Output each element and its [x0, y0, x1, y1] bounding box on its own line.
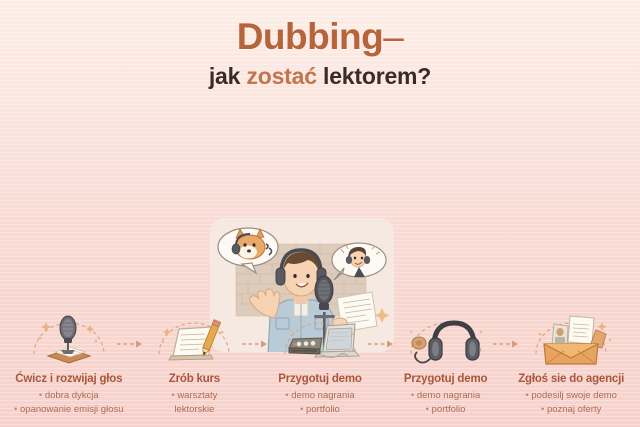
notepad-and-pencil-icon [149, 308, 239, 370]
step-4-bullet-1: demo nagrania [411, 389, 480, 403]
arrow-2-to-3-icon [241, 338, 271, 350]
step-1-bullet-2: opanowanie emisji głosu [14, 403, 123, 417]
microphone-and-book-icon [24, 308, 114, 370]
step-4[interactable]: Przygotuj demo demo nagrania portfolio [383, 308, 509, 417]
step-3-bullet-1: demo nagrania [285, 389, 354, 403]
infographic-poster: Dubbing– jak zostać lektorem? [0, 0, 640, 427]
step-1-title: Ćwicz i rozwijaj głos [15, 373, 122, 385]
step-5-bullet-2: poznaj oferty [525, 403, 617, 417]
page-title-dash: – [383, 16, 403, 57]
step-4-bullet-2: portfolio [411, 403, 480, 417]
headphones-icon [401, 308, 491, 370]
step-2-bullet-2: lektorskie [171, 403, 217, 417]
audio-interface-and-laptop-icon [275, 308, 365, 370]
step-3-bullets: demo nagrania portfolio [285, 389, 354, 417]
step-5-bullets: podesilj swoje demo poznaj oferty [525, 389, 617, 417]
step-3[interactable]: Przygotuj demo demo nagrania portfolio [257, 308, 383, 417]
steps-row: Ćwicz i rozwijaj głos dobra dykcja opano… [0, 308, 640, 427]
envelope-with-documents-icon [526, 308, 616, 370]
step-5-title: Zgłoś sie do agencji [518, 373, 624, 385]
step-2-bullets: warsztaty lektorskie [171, 389, 217, 417]
page-title-text: Dubbing [237, 16, 384, 57]
step-3-title: Przygotuj demo [278, 373, 361, 385]
subtitle-accent: zostać [246, 63, 316, 89]
subtitle-prefix: jak [209, 63, 240, 89]
title-block: Dubbing– jak zostać lektorem? [0, 18, 640, 89]
arrow-3-to-4-icon [367, 338, 397, 350]
step-3-bullet-2: portfolio [285, 403, 354, 417]
step-1-bullets: dobra dykcja opanowanie emisji głosu [14, 389, 123, 417]
step-1[interactable]: Ćwicz i rozwijaj głos dobra dykcja opano… [6, 308, 132, 417]
subtitle-suffix: lektorem? [323, 63, 431, 89]
page-title: Dubbing– [0, 18, 640, 57]
step-2-bullet-1: warsztaty [171, 389, 217, 403]
step-1-bullet-1: dobra dykcja [14, 389, 123, 403]
step-5[interactable]: Zgłoś sie do agencji podesilj swoje demo… [508, 308, 634, 417]
page-subtitle: jak zostać lektorem? [0, 64, 640, 89]
step-4-title: Przygotuj demo [404, 373, 487, 385]
step-2-title: Zrób kurs [169, 373, 220, 385]
step-5-bullet-1: podesilj swoje demo [525, 389, 617, 403]
arrow-4-to-5-icon [492, 338, 522, 350]
step-4-bullets: demo nagrania portfolio [411, 389, 480, 417]
arrow-1-to-2-icon [116, 338, 146, 350]
step-2[interactable]: Zrób kurs warsztaty lektorskie [132, 308, 258, 417]
